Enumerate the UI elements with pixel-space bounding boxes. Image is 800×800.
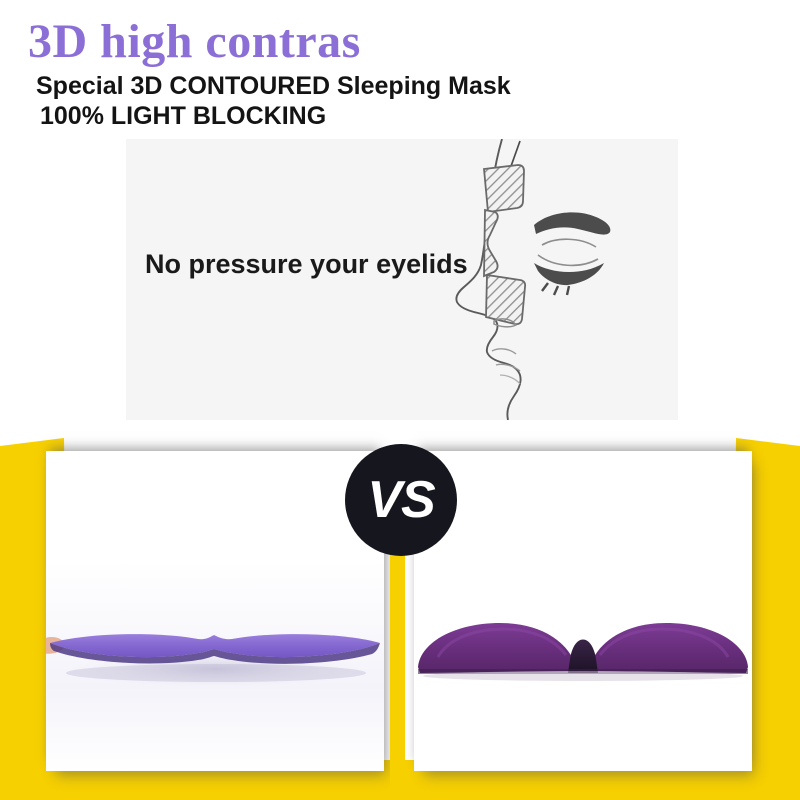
panel-other: OTHER	[46, 451, 384, 771]
face-profile-illustration	[438, 139, 668, 420]
page-title: 3D high contras	[28, 16, 361, 68]
eyelid-line	[538, 255, 598, 265]
illustration-panel: No pressure your eyelids	[126, 139, 678, 420]
mask-photo-flat	[46, 561, 384, 771]
upper-lip-line	[492, 349, 516, 354]
mask-bridge	[484, 210, 498, 276]
eyelid-crease	[542, 239, 596, 247]
eyelashes	[534, 263, 604, 285]
panel-ours: OURS	[414, 451, 752, 771]
illustration-caption: No pressure your eyelids	[145, 249, 468, 280]
mask-pad-upper	[484, 165, 524, 212]
header-block: 3D high contras Special 3D CONTOURED Sle…	[0, 0, 800, 135]
mask-pad-lower	[486, 275, 525, 324]
chin-line	[500, 375, 520, 384]
mask-photo-contoured	[414, 561, 752, 771]
vs-badge-label: VS	[345, 444, 457, 556]
vs-badge: VS	[345, 444, 457, 556]
subtitle-line-1: Special 3D CONTOURED Sleeping Mask	[36, 72, 511, 100]
subtitle-line-2: 100% LIGHT BLOCKING	[40, 102, 326, 130]
eyebrow	[534, 212, 610, 234]
product-feature-image: 3D high contras Special 3D CONTOURED Sle…	[0, 0, 800, 800]
vs-divider-stem	[390, 520, 405, 800]
